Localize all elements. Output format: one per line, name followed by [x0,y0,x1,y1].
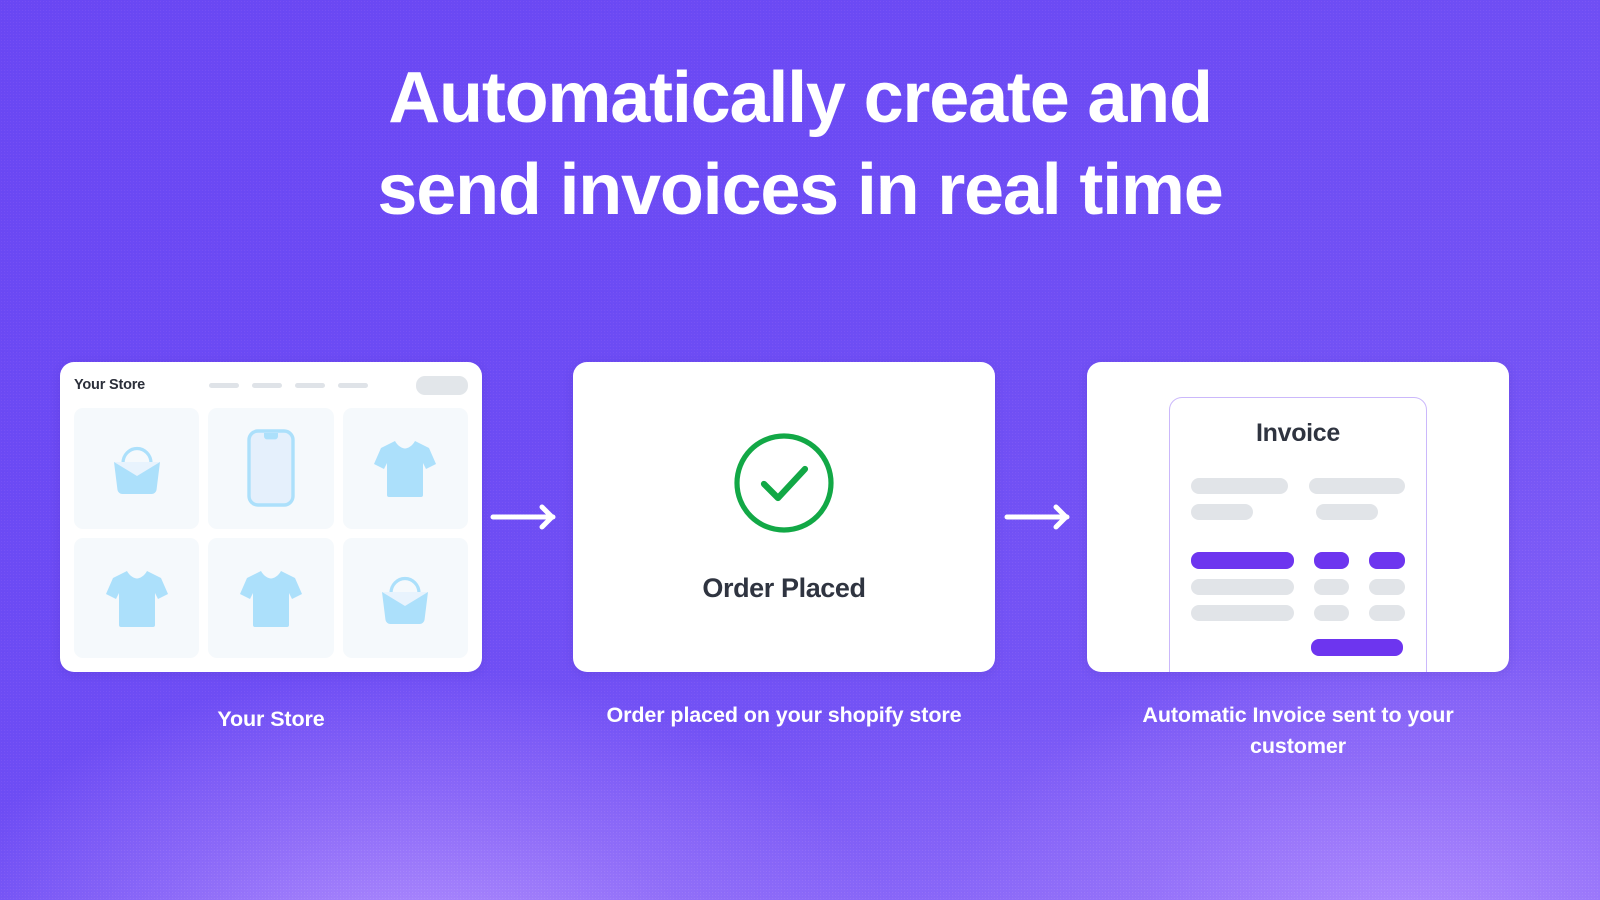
invoice-field-placeholder [1309,478,1406,494]
invoice-line-item-bar [1191,552,1294,569]
product-tile-tshirt[interactable] [74,538,199,659]
smartphone-icon [247,429,295,507]
invoice-title: Invoice [1170,419,1426,448]
product-tile-handbag[interactable] [74,408,199,529]
invoice-mockup-card: Invoice [1087,362,1509,672]
invoice-row [1191,605,1405,621]
step-your-store: Your Store [60,362,482,735]
invoice-row [1191,504,1405,520]
invoice-field-placeholder [1316,504,1378,520]
step-caption: Order placed on your shopify store [573,700,995,731]
order-status-label: Order Placed [702,573,865,604]
invoice-row-spacer [1191,530,1405,552]
nav-placeholder-dash[interactable] [252,383,282,388]
store-nav-placeholders [209,383,368,388]
tshirt-icon [237,567,305,629]
invoice-total-bar [1311,639,1403,656]
store-header: Your Store [60,362,482,408]
step-automatic-invoice: Invoice [1087,362,1509,761]
invoice-price-bar [1369,552,1405,569]
handbag-icon [374,569,436,627]
product-grid [60,408,482,672]
page-headline: Automatically create and send invoices i… [0,52,1600,236]
tshirt-icon [103,567,171,629]
nav-placeholder-dash[interactable] [295,383,325,388]
product-tile-handbag[interactable] [343,538,468,659]
store-name-label: Your Store [74,377,145,393]
invoice-line-item-bar [1191,579,1294,595]
step-caption: Automatic Invoice sent to your customer [1087,700,1509,761]
invoice-row [1191,478,1405,494]
headline-line-1: Automatically create and [0,52,1600,144]
step-order-placed: Order Placed Order placed on your shopif… [573,362,995,731]
connector-arrow-2 [1004,504,1076,530]
step-caption: Your Store [60,704,482,735]
invoice-row-highlighted [1191,552,1405,569]
invoice-total-row [1191,639,1405,656]
connector-arrow-1 [490,504,562,530]
product-tile-tshirt[interactable] [343,408,468,529]
product-tile-smartphone[interactable] [208,408,333,529]
tshirt-icon [371,437,439,499]
page-root: Automatically create and send invoices i… [0,0,1600,900]
invoice-field-placeholder [1191,478,1288,494]
steps-row: Your Store [0,362,1600,802]
invoice-price-bar [1369,605,1405,621]
nav-placeholder-dash[interactable] [209,383,239,388]
handbag-icon [106,439,168,497]
nav-placeholder-dash[interactable] [338,383,368,388]
store-mockup-card: Your Store [60,362,482,672]
product-tile-tshirt[interactable] [208,538,333,659]
order-status-card: Order Placed [573,362,995,672]
invoice-qty-bar [1314,552,1350,569]
invoice-row [1191,579,1405,595]
invoice-document: Invoice [1169,397,1427,672]
invoice-line-item-bar [1191,605,1294,621]
invoice-field-placeholder [1191,504,1253,520]
invoice-price-bar [1369,579,1405,595]
invoice-qty-bar [1314,579,1350,595]
invoice-qty-bar [1314,605,1350,621]
arrow-right-icon [490,504,562,530]
headline-line-2: send invoices in real time [0,144,1600,236]
check-circle-icon [732,431,836,535]
arrow-right-icon [1004,504,1076,530]
invoice-placeholder-rows [1170,448,1426,656]
store-action-button[interactable] [416,376,468,395]
